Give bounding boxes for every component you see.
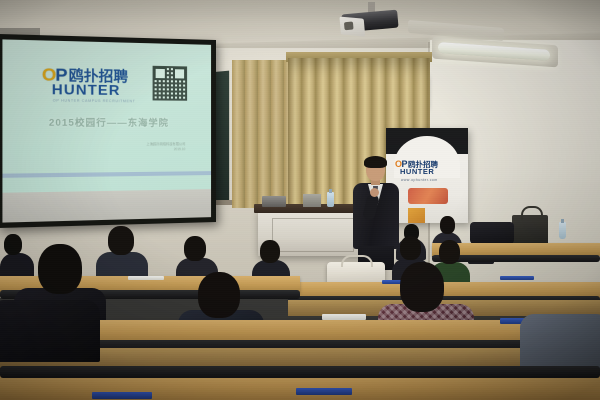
paper-sheet: [128, 276, 164, 280]
blue-notebook: [500, 276, 534, 280]
student-head: [184, 236, 206, 261]
light-tube: [438, 42, 550, 61]
student-head: [439, 240, 460, 264]
student-head: [400, 236, 421, 260]
blue-notebook: [92, 392, 152, 399]
screen-surface: OP 鸥扑招聘 HUNTER OP HUNTER CAMPUS RECRUITM…: [2, 39, 211, 222]
student-body: [0, 300, 100, 362]
ceiling-projector: [341, 8, 399, 37]
banner-url: www.ophunter.com: [401, 178, 461, 182]
curtain-side: [232, 60, 290, 208]
slide-accent-bar: [2, 171, 211, 178]
list-item: [0, 280, 100, 360]
banner-logo-hunter: HUNTER: [400, 168, 461, 176]
logo-tagline: OP HUNTER CAMPUS RECRUITMENT: [53, 98, 167, 103]
water-bottle: [559, 222, 566, 239]
projector-lens: [344, 21, 354, 30]
paper-sheet: [322, 314, 366, 320]
student-head: [108, 226, 134, 255]
student-head: [198, 272, 240, 318]
student-head: [260, 240, 280, 263]
slide-title: 2015校园行——东海学院: [2, 115, 211, 129]
presenter-hand: [370, 188, 379, 197]
student-head: [400, 262, 444, 312]
control-panel: [262, 196, 286, 207]
dark-backpack: [470, 222, 514, 244]
presenter-hair: [364, 156, 387, 168]
blackboard-right: [214, 71, 229, 204]
banner-photo-strip: [408, 188, 448, 204]
blue-notebook: [296, 388, 352, 395]
banner-graphic-box: [408, 208, 425, 223]
presentation-slide: OP 鸥扑招聘 HUNTER OP HUNTER CAMPUS RECRUITM…: [2, 39, 211, 193]
student-head: [440, 216, 455, 234]
logo-hunter-text: HUNTER: [52, 81, 168, 97]
lecture-hall-photo: OP 鸥扑招聘 HUNTER OP HUNTER CAMPUS RECRUITM…: [0, 0, 600, 400]
slide-footer-line2: 2015.10: [146, 147, 185, 153]
projection-screen: OP 鸥扑招聘 HUNTER OP HUNTER CAMPUS RECRUITM…: [0, 34, 216, 228]
banner-logo: OP 鸥扑招聘 HUNTER www.ophunter.com: [395, 160, 461, 182]
podium-water-bottle: [327, 192, 334, 207]
black-tote-bag: [512, 215, 548, 245]
qr-code-icon: [153, 65, 188, 100]
projector-box: [303, 194, 321, 207]
slide-logo: OP 鸥扑招聘 HUNTER OP HUNTER CAMPUS RECRUITM…: [42, 66, 167, 103]
screen-lower-blank: [2, 190, 211, 223]
slide-footer-text: 上海鸥扑网络科技有限公司 2015.10: [146, 142, 185, 153]
desk-rail: [0, 366, 600, 378]
